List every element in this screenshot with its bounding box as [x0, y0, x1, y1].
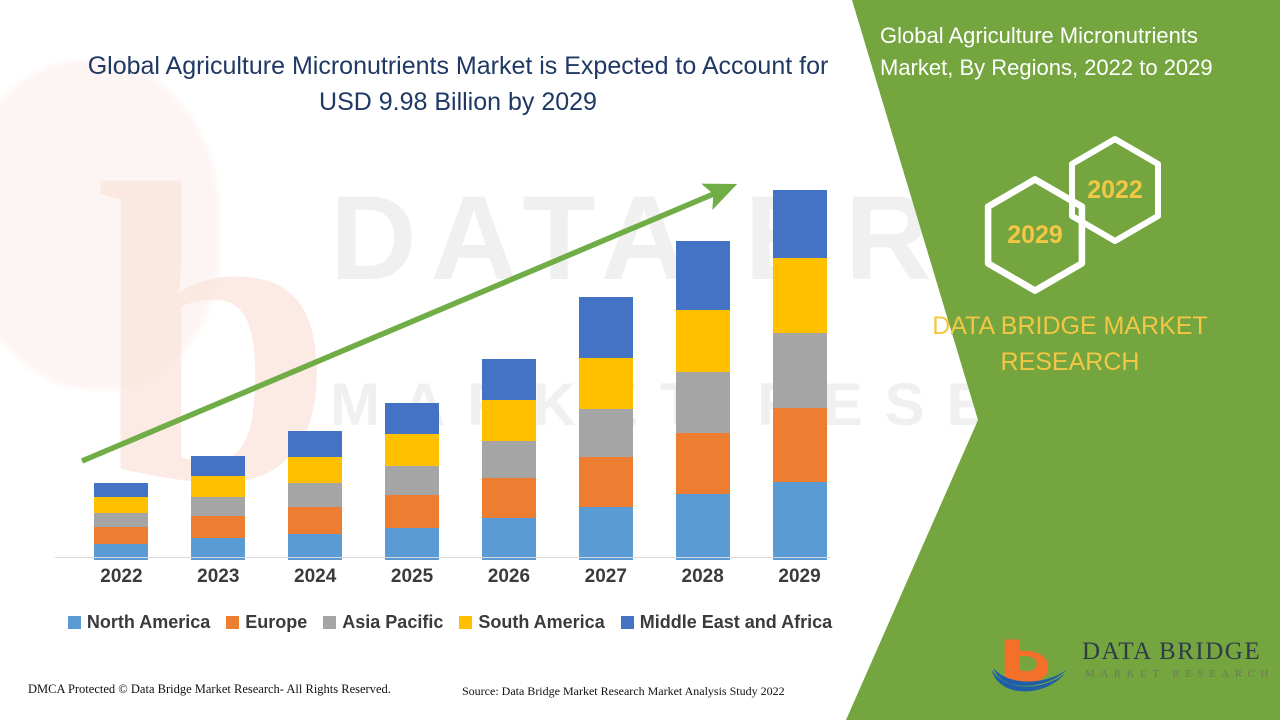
legend-swatch-icon [323, 616, 336, 629]
x-axis-label-2025: 2025 [372, 566, 452, 588]
hexagon-2022-label: 2022 [1087, 176, 1143, 205]
legend-label: Asia Pacific [342, 612, 443, 633]
page-title: Global Agriculture Micronutrients Market… [78, 48, 838, 121]
x-axis-label-2022: 2022 [81, 566, 161, 588]
dmca-notice: DMCA Protected © Data Bridge Market Rese… [28, 682, 391, 697]
logo-text-sub: MARKET RESEARCH [1085, 668, 1274, 680]
x-axis-label-2024: 2024 [275, 566, 355, 588]
legend-swatch-icon [621, 616, 634, 629]
x-axis-label-2026: 2026 [469, 566, 549, 588]
hexagon-year-2022: 2022 [1065, 135, 1165, 245]
legend-item[interactable]: Europe [226, 612, 307, 633]
chart-panel: b DATA BRI MARKET RESEARCH Global Agricu… [0, 0, 900, 720]
legend-label: Europe [245, 612, 307, 633]
legend-swatch-icon [459, 616, 472, 629]
data-bridge-logo: DATA BRIDGE MARKET RESEARCH [985, 630, 1275, 700]
legend-item[interactable]: North America [68, 612, 210, 633]
source-note: Source: Data Bridge Market Research Mark… [462, 684, 785, 699]
growth-arrow-icon [55, 150, 830, 560]
chart-legend: North AmericaEuropeAsia PacificSouth Ame… [55, 612, 845, 633]
hexagon-2029-label: 2029 [1007, 221, 1063, 250]
green-panel-content: Global Agriculture Micronutrients Market… [860, 0, 1280, 720]
legend-swatch-icon [68, 616, 81, 629]
legend-label: South America [478, 612, 604, 633]
legend-label: North America [87, 612, 210, 633]
legend-label: Middle East and Africa [640, 612, 832, 633]
legend-item[interactable]: South America [459, 612, 604, 633]
x-axis-labels: 20222023202420252026202720282029 [55, 566, 830, 596]
x-axis-label-2023: 2023 [178, 566, 258, 588]
logo-text-main: DATA BRIDGE [1082, 638, 1261, 666]
legend-item[interactable]: Middle East and Africa [621, 612, 832, 633]
x-axis-label-2027: 2027 [566, 566, 646, 588]
x-axis-label-2028: 2028 [663, 566, 743, 588]
x-axis-label-2029: 2029 [760, 566, 840, 588]
panel-title: Global Agriculture Micronutrients Market… [880, 20, 1270, 84]
brand-name: DATA BRIDGE MARKET RESEARCH [870, 308, 1270, 381]
legend-swatch-icon [226, 616, 239, 629]
legend-item[interactable]: Asia Pacific [323, 612, 443, 633]
logo-mark-icon [985, 632, 1080, 698]
